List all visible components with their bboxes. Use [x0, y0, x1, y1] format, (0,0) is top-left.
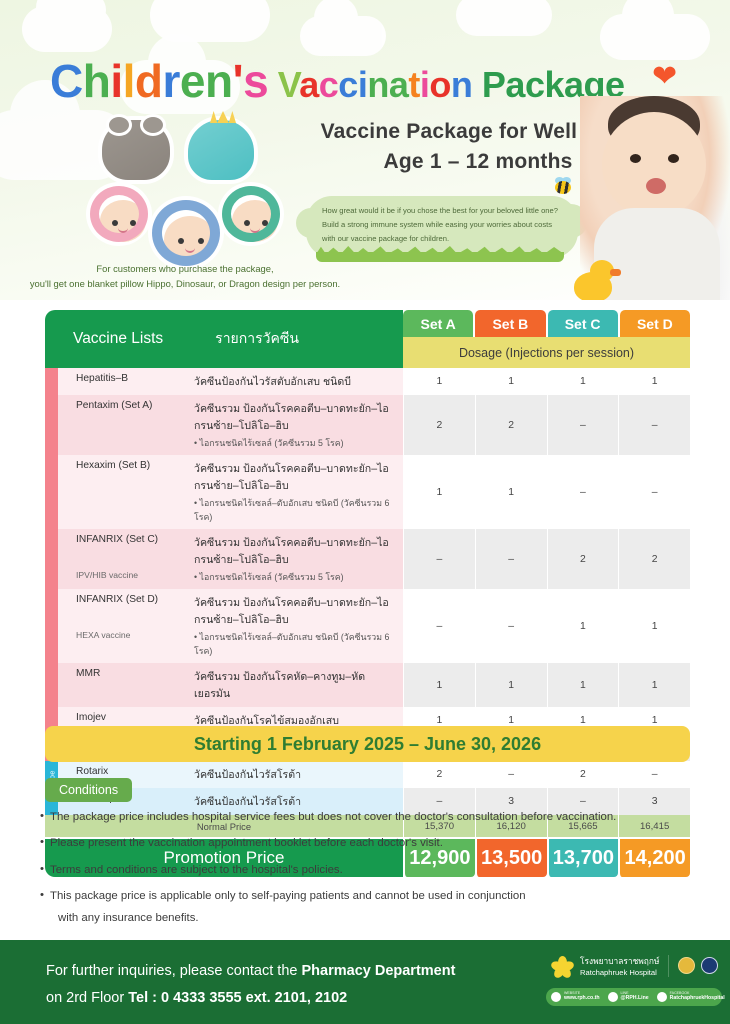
- doll-pink-icon: [86, 182, 152, 246]
- vaccine-name-th: วัคซีนป้องกันไวรัสโรต้า: [194, 793, 301, 810]
- facebook-icon: [657, 992, 667, 1002]
- vaccine-subname-en: [76, 496, 194, 524]
- title-letter: i: [110, 55, 122, 107]
- band-injection: [45, 455, 58, 529]
- vaccine-subname-th: • ไอกรนชนิดไร้เซลล์ (วัคซีนรวม 5 โรค): [194, 570, 344, 584]
- vaccine-name-en: Hepatitis–B: [76, 373, 194, 390]
- hospital-logo: โรงพยาบาลราชพฤกษ์ Ratchaphruek Hospital: [552, 954, 718, 977]
- dosage-cell: –: [475, 529, 547, 589]
- title-letter: a: [389, 64, 409, 105]
- condition-text: Terms and conditions are subject to the …: [50, 864, 343, 876]
- vaccine-name-en: Hexaxim (Set B): [76, 460, 194, 494]
- table-row: INFANRIX (Set D)วัคซีนรวม ป้องกันโรคคอตี…: [45, 589, 690, 663]
- vaccine-name-th: วัคซีนป้องกันไวรัสโรต้า: [194, 766, 301, 783]
- footer: For further inquiries, please contact th…: [0, 940, 730, 1024]
- social-caption: FACEBOOK: [670, 992, 725, 996]
- plush-toys-image: [86, 110, 286, 270]
- set-header-c: Set C: [548, 310, 618, 337]
- social-caption: WEBSITE: [564, 992, 600, 996]
- title-letter: c: [319, 64, 339, 105]
- cloud-decoration: [22, 6, 112, 52]
- hospital-name: โรงพยาบาลราชพฤกษ์ Ratchaphruek Hospital: [580, 954, 659, 977]
- band-injection: [45, 529, 58, 589]
- social-handle: www.rph.co.th: [564, 996, 600, 1002]
- dosage-cell: –: [475, 589, 547, 663]
- vaccine-name-th: วัคซีนรวม ป้องกันโรคหัด–คางทูม–หัดเยอรมั…: [194, 668, 397, 702]
- hippo-plush-icon: [98, 116, 174, 184]
- footer-line-1-bold: Pharmacy Department: [302, 963, 456, 979]
- vaccine-subname-th: • ไอกรนชนิดไร้เซลล์–ตับอักเสบ ชนิดบี (วั…: [194, 496, 397, 524]
- vaccine-subname-en: HEXA vaccine: [76, 630, 194, 658]
- dosage-cell: –: [403, 529, 475, 589]
- dosage-cell: 1: [547, 663, 619, 707]
- title-letter: i: [358, 64, 368, 105]
- accreditation-medal-icon: [678, 957, 695, 974]
- footer-line-2-bold: Tel : 0 4333 3555 ext. 2101, 2102: [128, 990, 347, 1006]
- condition-item: The package price includes hospital serv…: [40, 810, 700, 825]
- dosage-cell: 1: [618, 368, 690, 395]
- dosage-cell: –: [475, 761, 547, 788]
- set-tabs: Set ASet BSet CSet D: [403, 310, 690, 337]
- footer-line-2: on 2rd Floor Tel : 0 4333 3555 ext. 2101…: [46, 985, 455, 1012]
- condition-text-continued: with any insurance benefits.: [50, 911, 700, 926]
- footer-line-2-pre: on 2rd Floor: [46, 990, 128, 1006]
- table-row: Hexaxim (Set B)วัคซีนรวม ป้องกันโรคคอตีบ…: [45, 455, 690, 529]
- title-letter: d: [135, 55, 163, 107]
- social-link-line[interactable]: LINE@RPH.Line: [608, 992, 649, 1002]
- dosage-cell: 2: [403, 395, 475, 455]
- title-letter: c: [525, 64, 545, 105]
- social-link-website[interactable]: WEBSITEwww.rph.co.th: [551, 992, 600, 1002]
- title-letter: t: [408, 64, 420, 105]
- column-header-vaccine-lists: Vaccine Lists: [73, 330, 163, 348]
- title-letter: h: [83, 55, 111, 107]
- set-header-d: Set D: [620, 310, 690, 337]
- dosage-cell: 2: [475, 395, 547, 455]
- title-letter: a: [505, 64, 525, 105]
- title-letter: l: [123, 55, 135, 107]
- vaccine-subname-th: • ไอกรนชนิดไร้เซลล์–ตับอักเสบ ชนิดบี (วั…: [194, 630, 397, 658]
- table-row: Drop typeRotarixวัคซีนป้องกันไวรัสโรต้า2…: [45, 761, 690, 788]
- condition-text: The package price includes hospital serv…: [50, 811, 616, 823]
- vaccine-name-cell: INFANRIX (Set C)วัคซีนรวม ป้องกันโรคคอตี…: [58, 529, 403, 589]
- set-header-b: Set B: [475, 310, 545, 337]
- dosage-cell: 1: [403, 663, 475, 707]
- dosage-cell: 2: [618, 529, 690, 589]
- social-handle: RatchaphruekHospital: [670, 996, 725, 1002]
- dosage-cell: –: [547, 455, 619, 529]
- vaccine-name-th: วัคซีนรวม ป้องกันโรคคอตีบ–บาดทะยัก–ไอกรน…: [194, 594, 397, 628]
- title-letter: o: [429, 64, 451, 105]
- footer-line-1-pre: For further inquiries, please contact th…: [46, 963, 302, 979]
- condition-text: This package price is applicable only to…: [50, 890, 526, 902]
- band-injection: Injection type: [45, 368, 58, 395]
- dosage-cell: –: [618, 761, 690, 788]
- title-letter: ': [233, 55, 243, 107]
- dinosaur-plush-icon: [184, 116, 258, 184]
- accreditation-seal-icon: [701, 957, 718, 974]
- dosage-cell: 2: [547, 761, 619, 788]
- baby-photo: [580, 96, 730, 300]
- social-caption: LINE: [621, 992, 649, 996]
- social-handle: @RPH.Line: [621, 996, 649, 1002]
- globe-icon: [551, 992, 561, 1002]
- table-header-right: Set ASet BSet CSet D Dosage (Injections …: [403, 310, 690, 368]
- rubber-duck-icon: [574, 260, 618, 300]
- heart-icon: ❤: [652, 62, 677, 92]
- dosage-cell: 1: [547, 589, 619, 663]
- hospital-name-thai: โรงพยาบาลราชพฤกษ์: [580, 954, 659, 968]
- vaccine-name-th: วัคซีนรวม ป้องกันโรคคอตีบ–บาดทะยัก–ไอกรน…: [194, 400, 397, 434]
- dosage-cell: 2: [547, 529, 619, 589]
- title-letter: C: [50, 55, 83, 107]
- vaccine-name-th: วัคซีนรวม ป้องกันโรคคอตีบ–บาดทะยัก–ไอกรน…: [194, 534, 397, 568]
- title-letter: n: [205, 55, 233, 107]
- title-letter: c: [338, 64, 358, 105]
- dosage-cell: 2: [403, 761, 475, 788]
- title-letter: [268, 64, 278, 105]
- dosage-label: Dosage (Injections per session): [403, 337, 690, 368]
- band-injection: [45, 663, 58, 707]
- divider: [668, 955, 669, 977]
- vaccine-name-cell: Pentaxim (Set A)วัคซีนรวม ป้องกันโรคคอตี…: [58, 395, 403, 455]
- dosage-cell: –: [618, 455, 690, 529]
- vaccine-package-table: Vaccine Lists รายการวัคซีน Set ASet BSet…: [45, 310, 690, 877]
- vaccine-subname-th: • ไอกรนชนิดไร้เซลล์ (วัคซีนรวม 5 โรค): [194, 436, 344, 450]
- page-title: Children's Vaccination Package: [50, 54, 625, 108]
- table-row: Pentaxim (Set A)วัคซีนรวม ป้องกันโรคคอตี…: [45, 395, 690, 455]
- title-letter: V: [278, 64, 300, 105]
- condition-item: Please present the vaccination appointme…: [40, 836, 700, 851]
- dosage-cell: –: [618, 395, 690, 455]
- table-row: Injection typeHepatitis–Bวัคซีนป้องกันไว…: [45, 368, 690, 395]
- vaccine-name-cell: MMRวัคซีนรวม ป้องกันโรคหัด–คางทูม–หัดเยอ…: [58, 663, 403, 707]
- title-letter: e: [180, 55, 205, 107]
- dosage-cell: 1: [547, 368, 619, 395]
- title-letter: k: [544, 64, 564, 105]
- doll-green-icon: [218, 182, 284, 246]
- dosage-cell: –: [403, 589, 475, 663]
- title-letter: n: [451, 64, 473, 105]
- table-row: INFANRIX (Set C)วัคซีนรวม ป้องกันโรคคอตี…: [45, 529, 690, 589]
- vaccine-subname-en: IPV/HIB vaccine: [76, 570, 194, 584]
- dosage-cell: 1: [475, 368, 547, 395]
- vaccine-name-cell: Hexaxim (Set B)วัคซีนรวม ป้องกันโรคคอตีบ…: [58, 455, 403, 529]
- vaccine-name-th: วัคซีนป้องกันไวรัสตับอักเสบ ชนิดบี: [194, 373, 351, 390]
- line-icon: [608, 992, 618, 1002]
- title-letter: P: [482, 64, 506, 105]
- column-header-vaccine-lists-thai: รายการวัคซีน: [215, 328, 299, 350]
- title-letter: i: [420, 64, 430, 105]
- cloud-decoration: [456, 0, 552, 36]
- vaccine-name-cell: Hepatitis–Bวัคซีนป้องกันไวรัสตับอักเสบ ช…: [58, 368, 403, 395]
- table-header: Vaccine Lists รายการวัคซีน Set ASet BSet…: [45, 310, 690, 368]
- promo-gift-note: For customers who purchase the package, …: [10, 262, 360, 291]
- bee-icon: [551, 178, 573, 194]
- band-injection: [45, 395, 58, 455]
- band-injection: [45, 589, 58, 663]
- dosage-cell: –: [547, 395, 619, 455]
- dosage-cell: 1: [618, 663, 690, 707]
- dosage-cell: 1: [403, 368, 475, 395]
- set-header-a: Set A: [403, 310, 473, 337]
- footer-contact-text: For further inquiries, please contact th…: [46, 958, 455, 1012]
- social-link-facebook[interactable]: FACEBOOKRatchaphruekHospital: [657, 992, 725, 1002]
- title-letter: s: [243, 55, 268, 107]
- condition-text: Please present the vaccination appointme…: [50, 837, 443, 849]
- conditions-list: The package price includes hospital serv…: [40, 810, 700, 937]
- header-banner: Children's Vaccination Package ❤ Vaccine…: [0, 0, 730, 300]
- dosage-cell: 1: [403, 455, 475, 529]
- promo-gift-note-line-2: you'll get one blanket pillow Hippo, Din…: [10, 277, 360, 292]
- vaccine-name-th: วัคซีนรวม ป้องกันโรคคอตีบ–บาดทะยัก–ไอกรน…: [194, 460, 397, 494]
- vaccine-name-cell: INFANRIX (Set D)วัคซีนรวม ป้องกันโรคคอตี…: [58, 589, 403, 663]
- validity-date-banner: Starting 1 February 2025 – June 30, 2026: [45, 726, 690, 762]
- dosage-cell: 1: [475, 455, 547, 529]
- vaccine-name-en: INFANRIX (Set C): [76, 534, 194, 568]
- title-letter: n: [367, 64, 389, 105]
- title-letter: [472, 64, 482, 105]
- grass-decoration: [316, 252, 564, 262]
- footer-line-1: For further inquiries, please contact th…: [46, 958, 455, 985]
- conditions-badge: Conditions: [45, 778, 132, 802]
- hospital-name-english: Ratchaphruek Hospital: [580, 968, 659, 977]
- dosage-cell: 1: [618, 589, 690, 663]
- vaccine-name-en: Pentaxim (Set A): [76, 400, 194, 434]
- flower-icon: [552, 955, 574, 977]
- cloud-decoration: [300, 16, 386, 56]
- dosage-cell: 1: [475, 663, 547, 707]
- social-links-bar[interactable]: WEBSITEwww.rph.co.thLINE@RPH.LineFACEBOO…: [546, 988, 722, 1006]
- condition-item: Terms and conditions are subject to the …: [40, 863, 700, 878]
- intro-text: How great would it be if you chose the b…: [322, 204, 562, 246]
- title-letter: r: [163, 55, 180, 107]
- vaccine-name-en: MMR: [76, 668, 194, 702]
- table-header-left: Vaccine Lists รายการวัคซีน: [45, 310, 403, 368]
- promo-gift-note-line-1: For customers who purchase the package,: [10, 262, 360, 277]
- table-row: MMRวัคซีนรวม ป้องกันโรคหัด–คางทูม–หัดเยอ…: [45, 663, 690, 707]
- condition-item: This package price is applicable only to…: [40, 889, 700, 926]
- title-letter: a: [299, 64, 319, 105]
- vaccine-subname-en: [76, 436, 194, 450]
- doll-blue-icon: [148, 196, 224, 270]
- vaccine-name-en: INFANRIX (Set D): [76, 594, 194, 628]
